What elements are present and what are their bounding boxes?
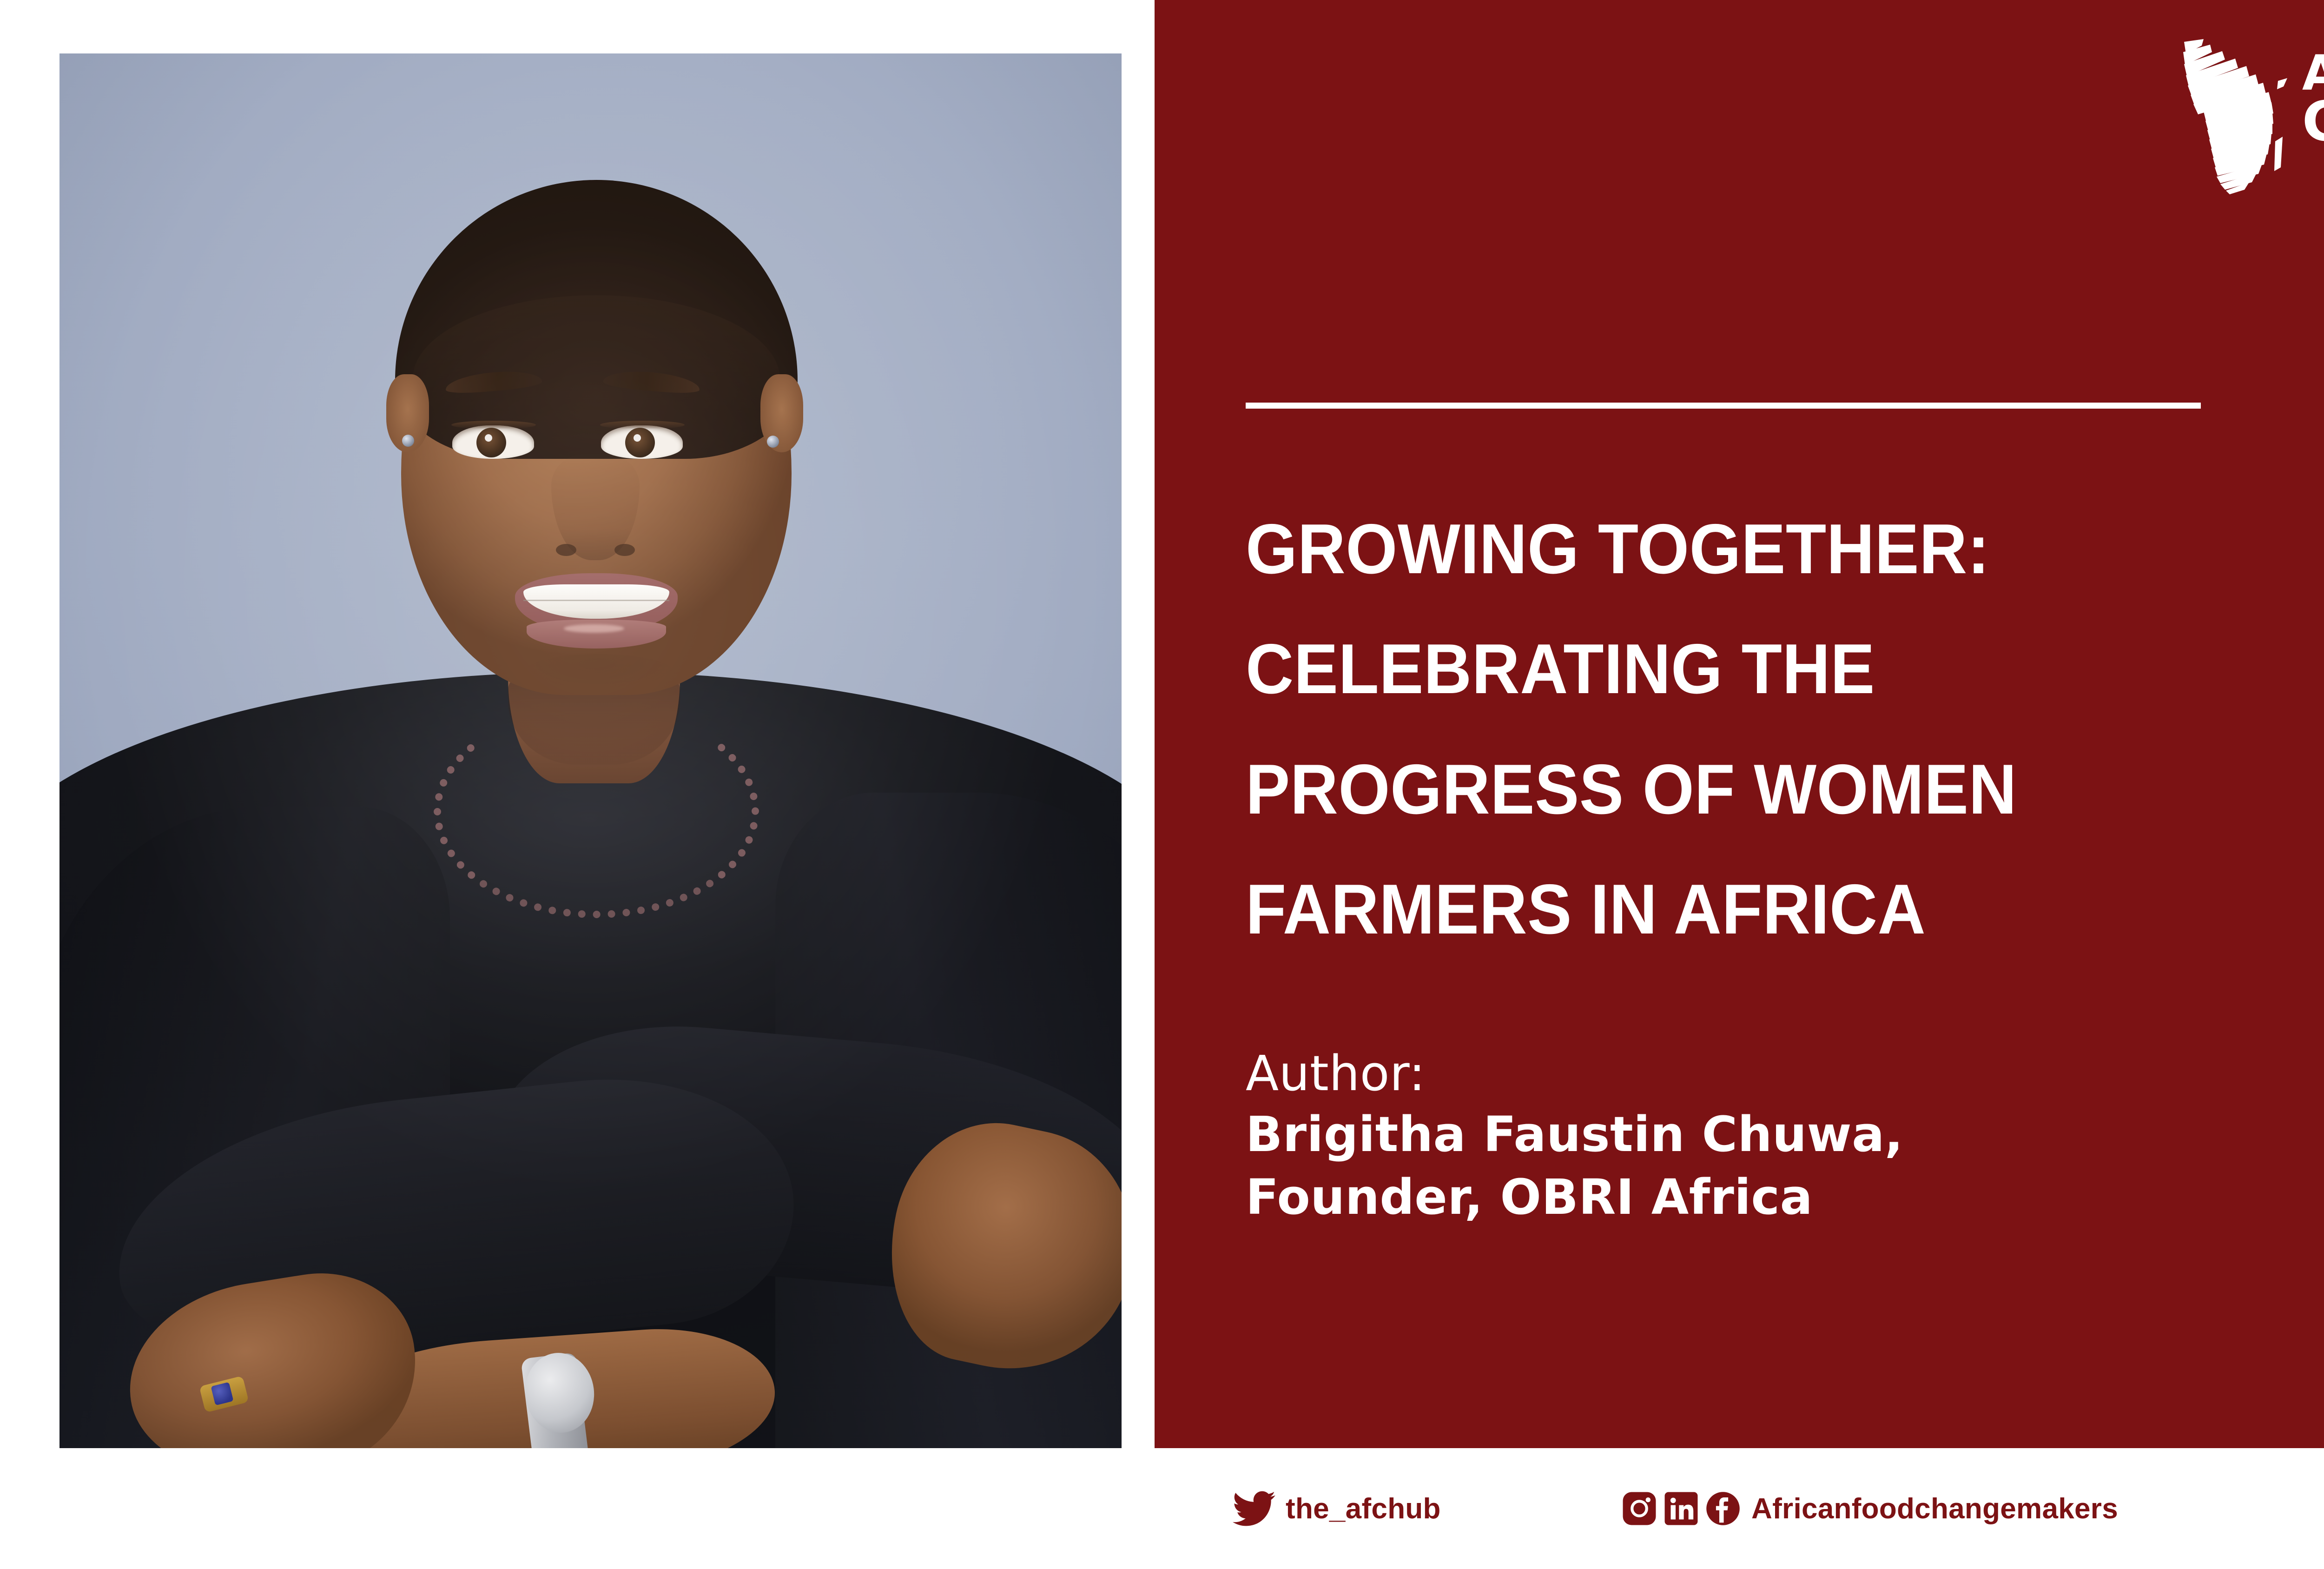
facebook-icon[interactable] xyxy=(1706,1491,1740,1526)
page-title: GROWING TOGETHER: CELEBRATING THE PROGRE… xyxy=(1246,489,2324,970)
footer-twitter-group[interactable]: the_afchub xyxy=(1233,1487,1441,1530)
brand-logo-wordmark: African Food Changemakers xyxy=(2302,38,2324,147)
footer-bar: the_afchub xyxy=(1155,1448,2324,1569)
brand-logo-line2: Changemakers xyxy=(2302,96,2324,147)
linkedin-icon[interactable] xyxy=(1664,1491,1698,1526)
twitter-bird-icon[interactable] xyxy=(1233,1487,1275,1530)
title-line-1: GROWING TOGETHER: xyxy=(1246,489,2324,609)
africa-map-striped-icon xyxy=(2183,38,2290,196)
footer-social-icons xyxy=(1622,1491,1740,1526)
brand-logo: African Food Changemakers xyxy=(2183,38,2324,196)
instagram-icon[interactable] xyxy=(1622,1491,1657,1526)
footer-social-group[interactable]: Africanfoodchangemakers xyxy=(1622,1491,2118,1526)
footer-social-handle[interactable]: Africanfoodchangemakers xyxy=(1751,1492,2118,1525)
footer-twitter-handle[interactable]: the_afchub xyxy=(1286,1492,1441,1525)
author-block: Author: Brigitha Faustin Chuwa, Founder,… xyxy=(1246,1044,1903,1229)
title-line-4: FARMERS IN AFRICA xyxy=(1246,849,2324,969)
photo-vignette xyxy=(59,53,1122,1448)
author-label: Author: xyxy=(1246,1044,1903,1103)
author-name: Brigitha Faustin Chuwa, xyxy=(1246,1103,1903,1166)
author-portrait-photo xyxy=(59,53,1122,1448)
title-line-2: CELEBRATING THE xyxy=(1246,609,2324,729)
content-panel: African Food Changemakers GROWING TOGETH… xyxy=(1155,0,2324,1448)
author-role: Founder, OBRI Africa xyxy=(1246,1166,1903,1229)
title-divider-rule xyxy=(1246,403,2201,409)
slide-canvas: African Food Changemakers GROWING TOGETH… xyxy=(0,0,2324,1569)
title-line-3: PROGRESS OF WOMEN xyxy=(1246,729,2324,849)
